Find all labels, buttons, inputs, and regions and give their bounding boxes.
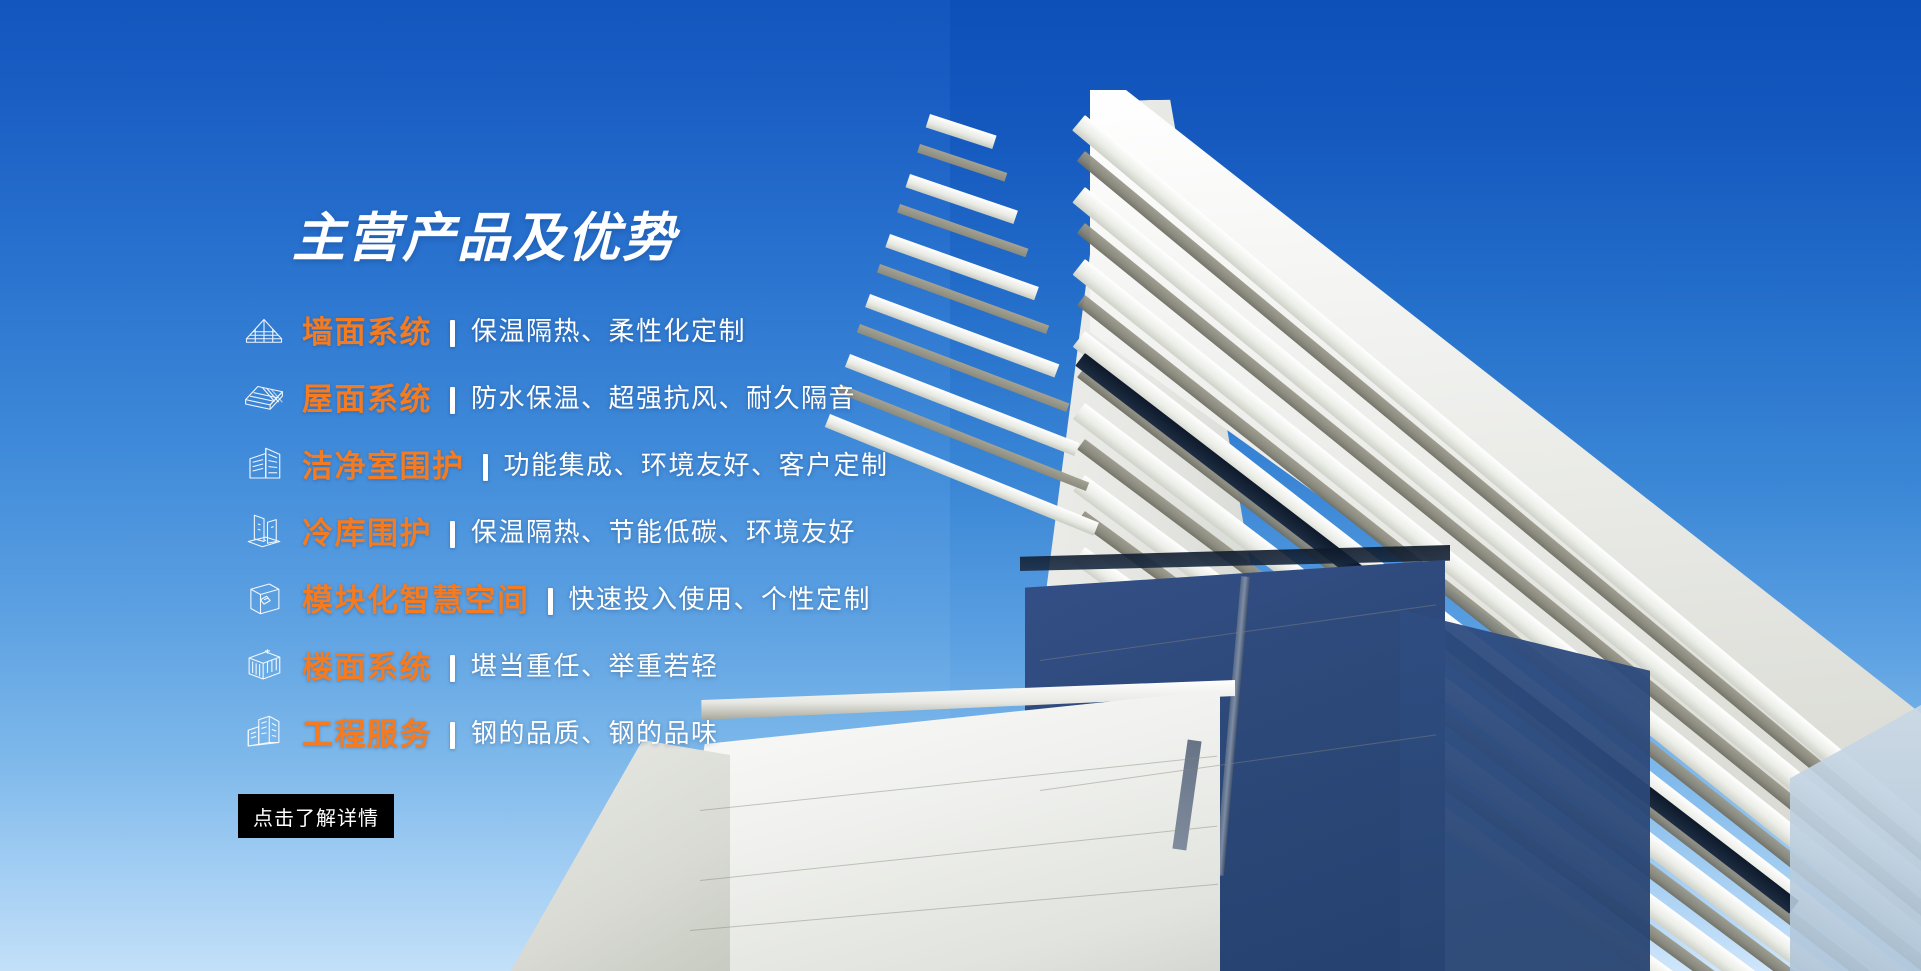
feature-description: 保温隔热、柔性化定制 — [471, 311, 746, 348]
feature-title: 洁净室围护 — [302, 441, 465, 486]
promo-banner: 主营产品及优势 墙面系统保温隔热、柔性化定制屋面系统防水保温、超强抗风、耐久隔音… — [0, 0, 1921, 971]
feature-separator — [450, 320, 455, 347]
feature-separator — [548, 588, 553, 615]
feature-row[interactable]: 楼面系统堪当重任、举重若轻 — [236, 631, 1236, 698]
floor-deck-icon — [236, 641, 292, 689]
feature-description: 防水保温、超强抗风、耐久隔音 — [471, 378, 856, 415]
feature-separator — [483, 454, 488, 481]
feature-description: 快速投入使用、个性定制 — [569, 579, 872, 616]
cleanroom-building-icon — [236, 440, 292, 488]
feature-separator — [450, 521, 455, 548]
feature-title: 模块化智慧空间 — [302, 575, 530, 620]
feature-title: 墙面系统 — [302, 307, 432, 352]
feature-separator — [450, 722, 455, 749]
feature-title: 工程服务 — [302, 709, 432, 754]
feature-separator — [450, 655, 455, 682]
feature-row[interactable]: 墙面系统保温隔热、柔性化定制 — [236, 296, 1236, 363]
feature-row[interactable]: 工程服务钢的品质、钢的品味 — [236, 698, 1236, 765]
feature-title: 楼面系统 — [302, 642, 432, 687]
feature-row[interactable]: 冷库围护保温隔热、节能低碳、环境友好 — [236, 497, 1236, 564]
feature-list: 墙面系统保温隔热、柔性化定制屋面系统防水保温、超强抗风、耐久隔音洁净室围护功能集… — [236, 296, 1236, 765]
feature-separator — [450, 387, 455, 414]
feature-title: 冷库围护 — [302, 508, 432, 553]
feature-description: 功能集成、环境友好、客户定制 — [504, 445, 889, 482]
cold-storage-icon — [236, 507, 292, 555]
page-title: 主营产品及优势 — [292, 212, 677, 265]
modular-cube-icon — [236, 574, 292, 622]
feature-description: 钢的品质、钢的品味 — [471, 713, 719, 750]
roof-panel-icon — [236, 373, 292, 421]
feature-row[interactable]: 模块化智慧空间快速投入使用、个性定制 — [236, 564, 1236, 631]
engineering-service-icon — [236, 708, 292, 756]
blue-cladding-panel-secondary — [1400, 610, 1650, 971]
feature-title: 屋面系统 — [302, 374, 432, 419]
background-building — [1790, 700, 1921, 971]
feature-description: 保温隔热、节能低碳、环境友好 — [471, 512, 856, 549]
learn-more-button[interactable]: 点击了解详情 — [238, 794, 394, 838]
feature-description: 堪当重任、举重若轻 — [471, 646, 719, 683]
banner-content: 主营产品及优势 墙面系统保温隔热、柔性化定制屋面系统防水保温、超强抗风、耐久隔音… — [236, 0, 1236, 971]
feature-row[interactable]: 洁净室围护功能集成、环境友好、客户定制 — [236, 430, 1236, 497]
feature-row[interactable]: 屋面系统防水保温、超强抗风、耐久隔音 — [236, 363, 1236, 430]
wall-frame-icon — [236, 306, 292, 354]
